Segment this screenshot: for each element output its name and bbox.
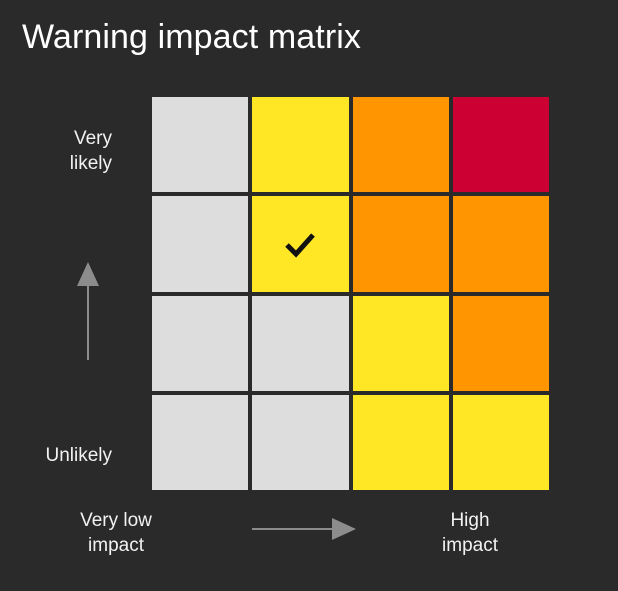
matrix-cell-r3c1[interactable]: [152, 296, 248, 391]
matrix-cell-r2c1[interactable]: [152, 196, 248, 291]
x-axis-label-very-low-impact: Very low impact: [42, 508, 190, 558]
matrix-cell-r1c3[interactable]: [353, 97, 449, 192]
arrow-up-icon: [70, 258, 106, 364]
matrix-cell-r3c3[interactable]: [353, 296, 449, 391]
matrix-cell-r3c2[interactable]: [252, 296, 348, 391]
warning-impact-matrix: [152, 97, 549, 490]
matrix-cell-r4c3[interactable]: [353, 395, 449, 490]
y-axis-label-unlikely: Unlikely: [0, 443, 112, 468]
y-axis-label-very-likely: Very likely: [0, 126, 112, 176]
check-icon: [280, 224, 320, 264]
arrow-right-icon: [250, 516, 358, 542]
matrix-cell-r4c4[interactable]: [453, 395, 549, 490]
matrix-cell-r1c2[interactable]: [252, 97, 348, 192]
matrix-cell-r2c4[interactable]: [453, 196, 549, 291]
x-axis-label-high-impact: High impact: [400, 508, 540, 558]
matrix-cell-r3c4[interactable]: [453, 296, 549, 391]
matrix-cell-r2c2[interactable]: [252, 196, 348, 291]
matrix-cell-r4c1[interactable]: [152, 395, 248, 490]
matrix-cell-r1c4[interactable]: [453, 97, 549, 192]
matrix-cell-r2c3[interactable]: [353, 196, 449, 291]
matrix-cell-r4c2[interactable]: [252, 395, 348, 490]
page-title: Warning impact matrix: [22, 18, 361, 57]
matrix-cell-r1c1[interactable]: [152, 97, 248, 192]
